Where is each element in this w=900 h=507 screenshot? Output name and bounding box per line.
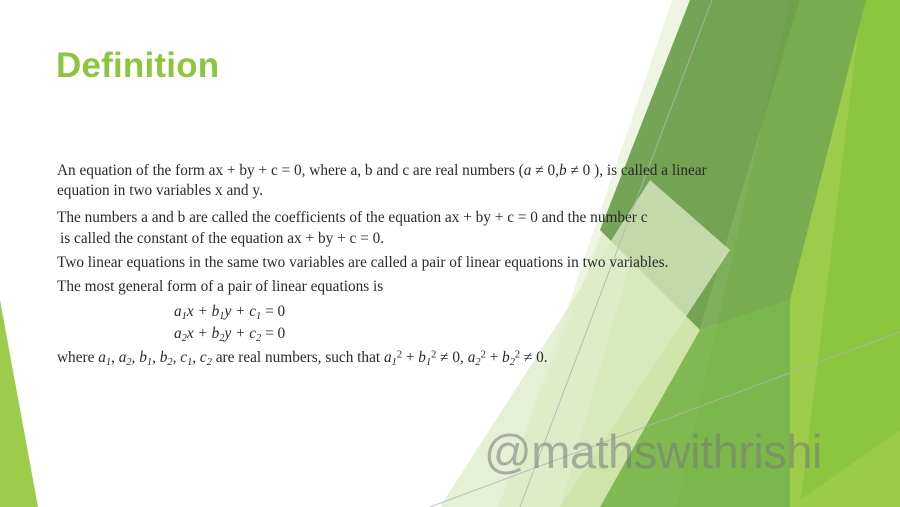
- page-title: Definition: [56, 46, 219, 86]
- cond-a-rest: ≠ 0,: [531, 162, 559, 179]
- condition-a: a ≠ 0,: [524, 162, 559, 179]
- equation-1: a1x + b1y + c1 = 0: [174, 302, 857, 324]
- paragraph-definition: An equation of the form ax + by + c = 0,…: [57, 161, 849, 201]
- conditions-middle: are real numbers, such that: [216, 349, 384, 366]
- left-wedge-shape: [0, 300, 38, 507]
- eq1-x: x +: [187, 303, 212, 320]
- c2-plus: +: [486, 349, 502, 366]
- condition-expr-2: a22 + b22 ≠ 0.: [468, 349, 548, 366]
- var-name: c: [200, 349, 207, 366]
- var-item: c2: [200, 349, 216, 366]
- var-sep: ,: [192, 349, 200, 366]
- var-b: b: [559, 162, 567, 179]
- c2-v2: b: [502, 349, 510, 366]
- eq2-y: y +: [224, 325, 249, 342]
- eq1-equals: = 0: [261, 303, 285, 320]
- var-sep: ,: [152, 349, 160, 366]
- c1-v2: b: [418, 349, 426, 366]
- eq1-a: a: [174, 303, 182, 320]
- definition-line2: equation in two variables x and y.: [57, 182, 263, 199]
- eq2-equals: = 0: [261, 325, 285, 342]
- slide: Definition An equation of the form ax + …: [0, 0, 900, 507]
- c1-plus: +: [402, 349, 418, 366]
- conditions-prefix: where: [57, 349, 98, 366]
- paragraph-general-form: The most general form of a pair of linea…: [57, 277, 857, 297]
- var-item: c1,: [180, 349, 200, 366]
- condition-expr-1: a12 + b12 ≠ 0,: [384, 349, 468, 366]
- bottom-lime-shape: [600, 430, 900, 507]
- eq2-x: x +: [187, 325, 212, 342]
- var-item: a2,: [119, 349, 140, 366]
- var-item: b1,: [139, 349, 160, 366]
- coefficients-line2: is called the constant of the equation a…: [57, 230, 384, 247]
- definition-tail: ), is called a linear: [590, 162, 706, 179]
- condition-b: b ≠ 0: [559, 162, 590, 179]
- body-content: An equation of the form ax + by + c = 0,…: [57, 161, 857, 370]
- c1-v1: a: [384, 349, 392, 366]
- paragraph-conditions: where a1, a2, b1, b2, c1, c2 are real nu…: [57, 348, 857, 370]
- c2-tail: ≠ 0.: [520, 349, 548, 366]
- var-item: a1,: [98, 349, 119, 366]
- var-name: b: [139, 349, 147, 366]
- definition-lead: An equation of the form ax + by + c = 0,…: [57, 162, 524, 179]
- paragraph-coefficients: The numbers a and b are called the coeff…: [57, 208, 857, 248]
- equation-2: a2x + b2y + c2 = 0: [174, 324, 857, 346]
- cond-b-rest: ≠ 0: [567, 162, 591, 179]
- equation-block: a1x + b1y + c1 = 0 a2x + b2y + c2 = 0: [57, 302, 857, 346]
- eq2-a: a: [174, 325, 182, 342]
- coefficients-line1: The numbers a and b are called the coeff…: [57, 209, 648, 226]
- var-item: b2,: [160, 349, 181, 366]
- var-sep: ,: [111, 349, 119, 366]
- watermark: @mathswithrishi: [484, 424, 822, 479]
- paragraph-pair: Two linear equations in the same two var…: [57, 253, 857, 273]
- eq1-y: y +: [224, 303, 249, 320]
- c1-tail: ≠ 0,: [436, 349, 467, 366]
- var-name: a: [98, 349, 106, 366]
